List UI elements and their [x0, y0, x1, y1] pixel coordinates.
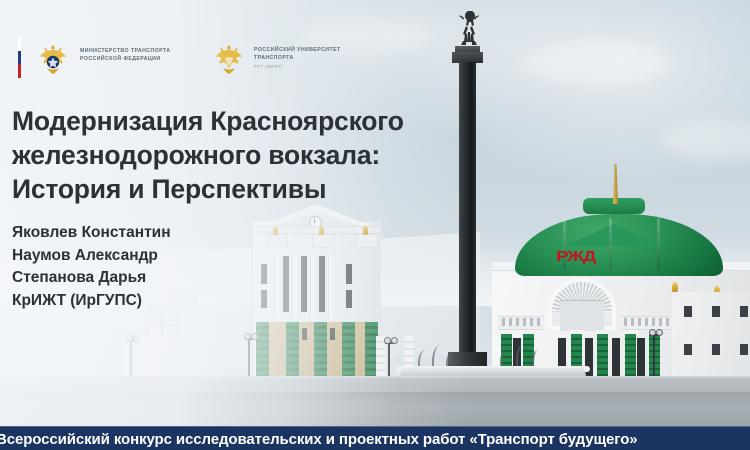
slide-title-line: Модернизация Красноярского — [12, 104, 482, 138]
slide-title-line: История и Перспективы — [12, 172, 482, 206]
ministry-logo-line1: МИНИСТЕРСТВО ТРАНСПОРТА — [80, 48, 170, 56]
author-list: Яковлев Константин Наумов Александр Степ… — [12, 222, 342, 312]
russian-flag-stripe-icon — [18, 38, 21, 78]
banner-text: Всероссийский конкурс исследовательских … — [0, 431, 638, 448]
university-logo-line1: РОССИЙСКИЙ УНИВЕРСИТЕТ — [254, 47, 341, 55]
slide-title-line: железнодорожного вокзала: — [12, 138, 482, 172]
university-logo-abbrev: РУТ (МИИТ) — [254, 64, 283, 69]
entablature — [620, 316, 678, 330]
author-affiliation: КрИЖТ (ИрГУПС) — [12, 290, 342, 313]
bottom-banner: Всероссийский конкурс исследовательских … — [0, 426, 750, 450]
station-green-dome — [505, 196, 735, 276]
cloud-wisp — [520, 40, 670, 86]
university-logo-line2: ТРАНСПОРТА — [254, 55, 294, 63]
university-eagle-icon — [210, 40, 248, 78]
slide-title: Модернизация Красноярского железнодорожн… — [12, 104, 482, 206]
ministry-logo-line2: РОССИЙСКОЙ ФЕДЕРАЦИИ — [80, 56, 161, 64]
author-name: Яковлев Константин — [12, 222, 342, 245]
rzd-logo: РЖД — [556, 248, 595, 265]
author-name: Степанова Дарья — [12, 267, 342, 290]
presentation-slide: РЖД — [0, 0, 750, 450]
author-name: Наумов Александр — [12, 245, 342, 268]
ministry-eagle-icon — [34, 40, 72, 78]
arch-window — [560, 300, 604, 331]
